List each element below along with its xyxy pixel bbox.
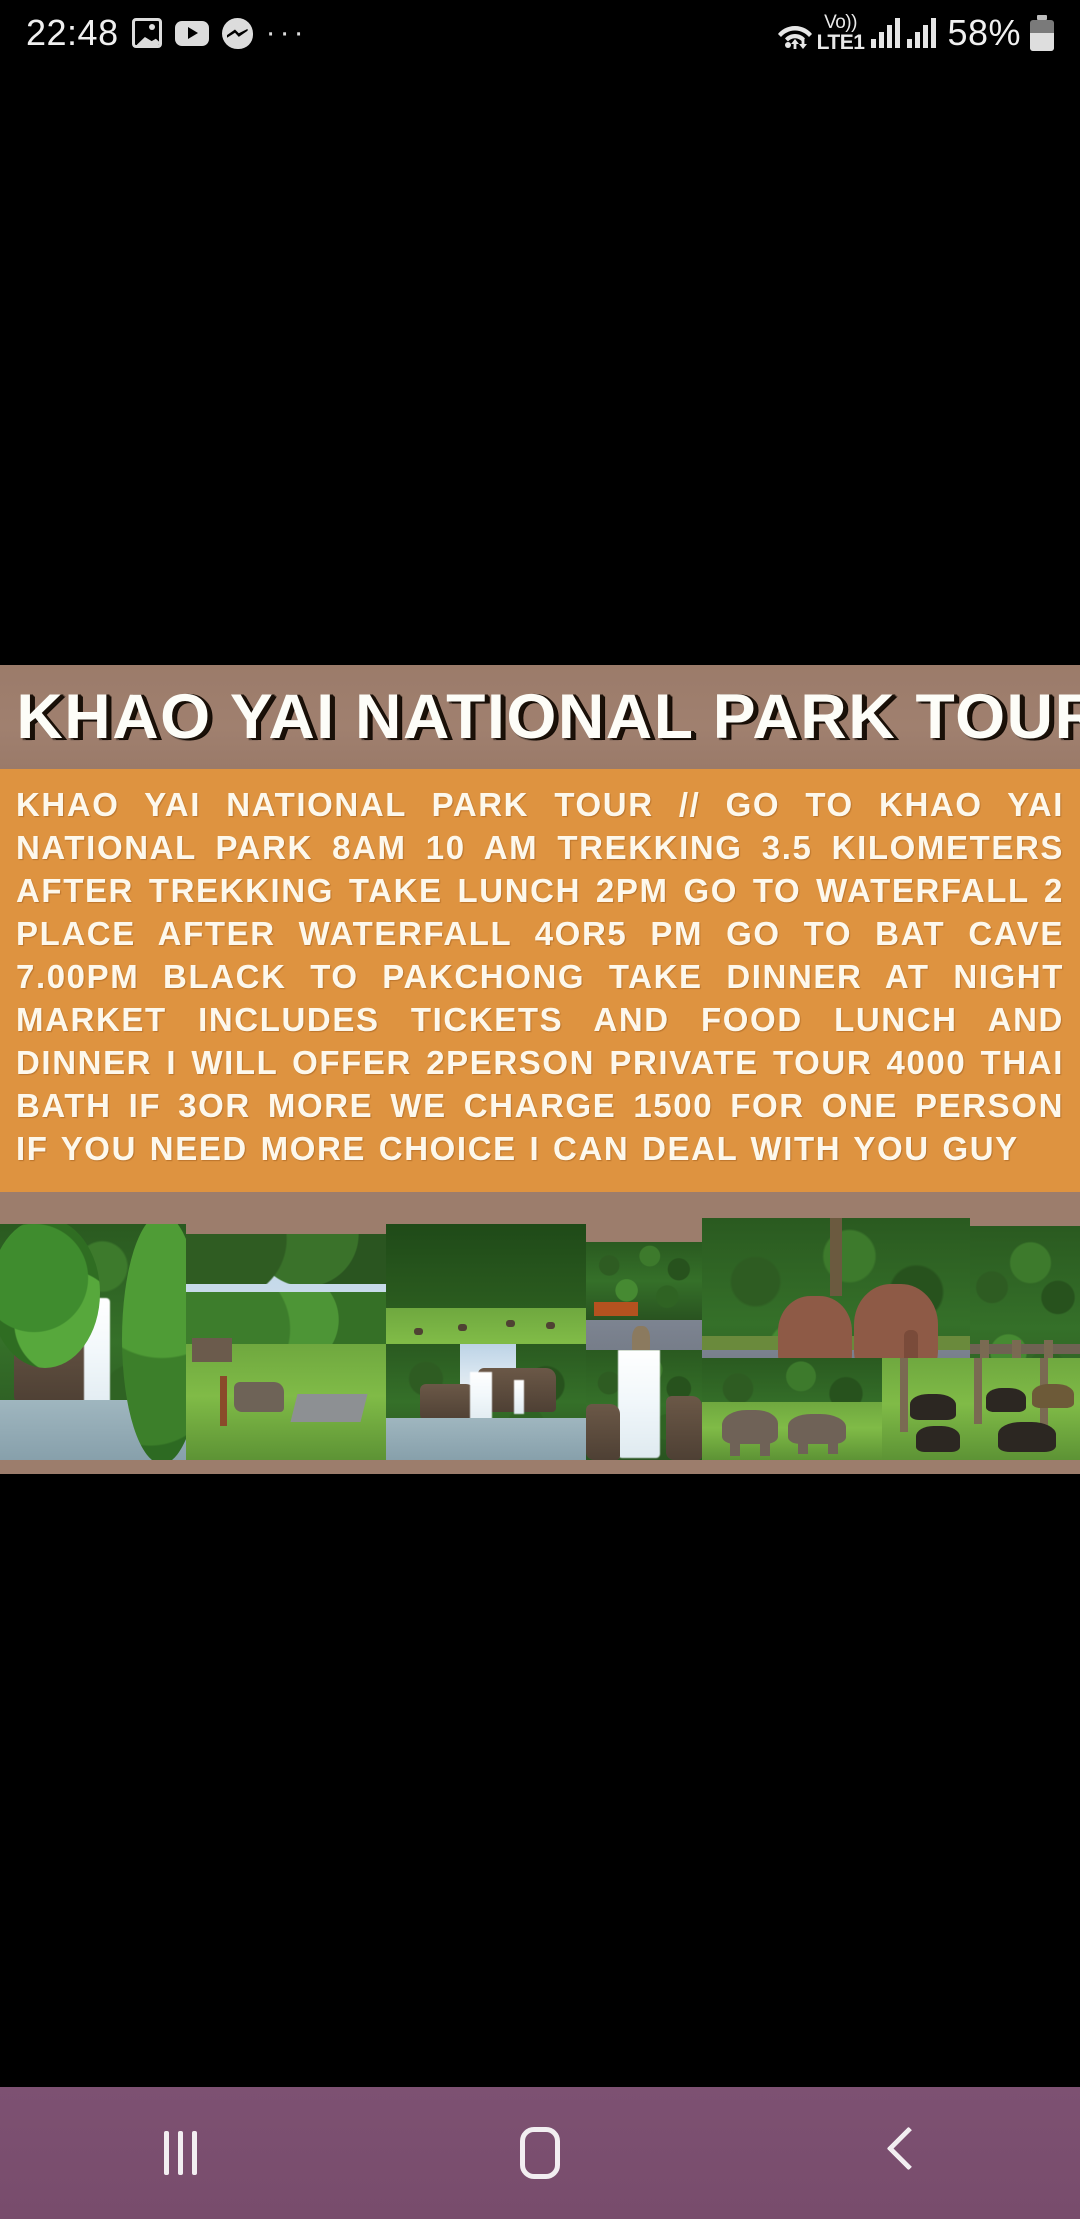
phone-screen: 22:48 ··· Vo)) LTE1 58%: [0, 0, 1080, 2219]
status-bar: 22:48 ··· Vo)) LTE1 58%: [0, 0, 1080, 66]
page-title: KHAO YAI NATIONAL PARK TOUR: [0, 686, 1080, 749]
back-chevron-icon: [887, 2130, 913, 2176]
tour-poster-image[interactable]: KHAO YAI NATIONAL PARK TOUR KHAO YAI NAT…: [0, 665, 1080, 1474]
recents-icon: [164, 2131, 197, 2175]
status-bar-right: Vo)) LTE1 58%: [776, 12, 1054, 54]
collage-photo-elephants-in-grass: [702, 1358, 882, 1460]
status-clock: 22:48: [26, 12, 119, 54]
overflow-dots-icon: ···: [266, 25, 308, 41]
volte-label: Vo)): [824, 13, 857, 32]
status-bar-left: 22:48 ···: [26, 12, 308, 54]
messenger-icon: [222, 18, 253, 49]
collage-photo-gaur-herd: [882, 1358, 1080, 1460]
lte-label: LTE1: [817, 32, 865, 53]
android-navigation-bar: [0, 2087, 1080, 2219]
collage-photo-tall-waterfall: [586, 1350, 702, 1460]
poster-collage-frame: [0, 1192, 1080, 1474]
battery-percent-label: 58%: [947, 12, 1021, 54]
home-icon: [520, 2127, 560, 2179]
recents-button[interactable]: [105, 2087, 255, 2219]
signal-bars-icon-1: [871, 18, 900, 48]
home-button[interactable]: [465, 2087, 615, 2219]
signal-bars-icon-2: [907, 18, 936, 48]
volte-lte-indicator: Vo)) LTE1: [817, 13, 865, 53]
battery-icon: [1030, 15, 1054, 51]
poster-body-text: KHAO YAI NATIONAL PARK TOUR // GO TO KHA…: [16, 783, 1064, 1170]
wifi-icon: [776, 17, 814, 49]
gallery-icon: [132, 18, 162, 48]
collage-photo-rock-waterfall-pool: [386, 1344, 586, 1460]
photo-collage: [0, 1212, 1080, 1460]
poster-body-panel: KHAO YAI NATIONAL PARK TOUR // GO TO KHA…: [0, 769, 1080, 1192]
poster-title-band: KHAO YAI NATIONAL PARK TOUR: [0, 665, 1080, 769]
youtube-icon: [175, 21, 209, 46]
back-button[interactable]: [825, 2087, 975, 2219]
collage-photo-haew-suwat-waterfall: [0, 1224, 186, 1460]
collage-photo-campground-trees: [186, 1234, 386, 1460]
